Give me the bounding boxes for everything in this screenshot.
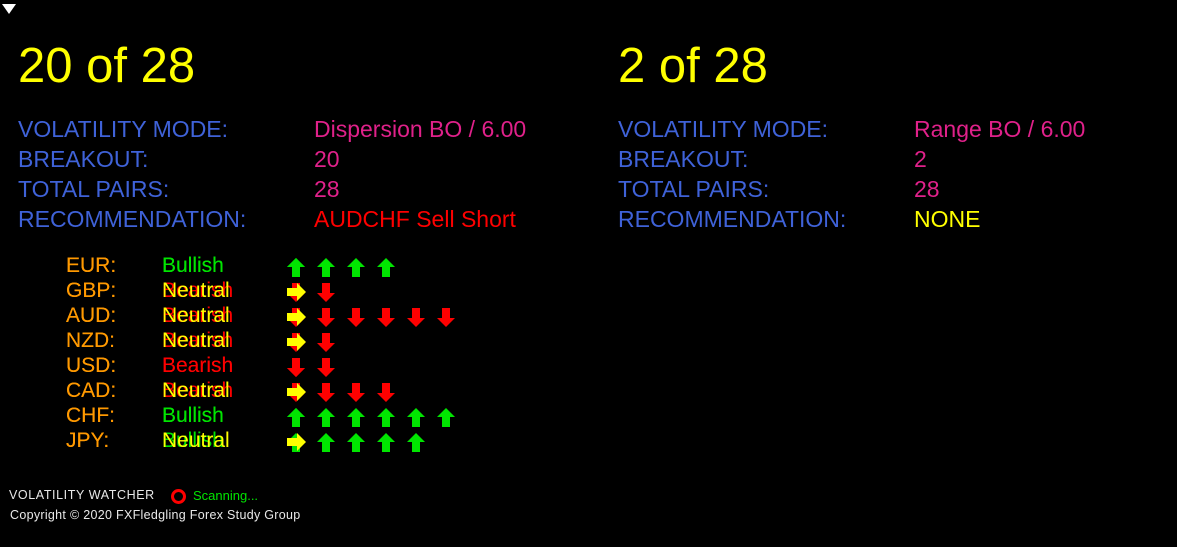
- right-arrow-icon: [285, 331, 315, 353]
- currency-state: Neutral: [162, 429, 230, 453]
- currency-row: CHF: Bullish: [66, 404, 586, 429]
- currency-row: NZD: Neutral: [66, 329, 586, 354]
- currency-state: Bearish: [162, 354, 233, 378]
- down-arrow-icon: [315, 356, 345, 378]
- summary-label: BREAKOUT:: [618, 146, 748, 173]
- summary-value: NONE: [914, 206, 980, 233]
- summary-value: Dispersion BO / 6.00: [314, 116, 526, 143]
- summary-value: 20: [314, 146, 340, 173]
- scan-status-text: Scanning...: [193, 488, 258, 503]
- currency-row: USD: Bearish: [66, 354, 586, 379]
- summary-label: VOLATILITY MODE:: [18, 116, 228, 143]
- panel-count-headline: 2 of 28: [618, 42, 768, 91]
- summary-list: VOLATILITY MODE: Range BO / 6.00 BREAKOU…: [618, 116, 1177, 236]
- copyright-text: Copyright © 2020 FXFledgling Forex Study…: [10, 508, 301, 522]
- currency-row: JPY: Neutral: [66, 429, 586, 454]
- currency-code: EUR:: [66, 254, 116, 278]
- currency-code: AUD:: [66, 304, 116, 328]
- summary-label: TOTAL PAIRS:: [18, 176, 169, 203]
- footer: VOLATILITY WATCHER Scanning... Copyright…: [9, 488, 609, 538]
- volatility-watcher-panel: 20 of 28 VOLATILITY MODE: Dispersion BO …: [0, 0, 1177, 547]
- currency-row: GBP: Neutral: [66, 279, 586, 304]
- currency-state: Bullish: [162, 254, 224, 278]
- currency-arrows: [285, 381, 315, 403]
- currency-code: CHF:: [66, 404, 115, 428]
- summary-value: AUDCHF Sell Short: [314, 206, 516, 233]
- summary-row-breakout: BREAKOUT: 20: [18, 146, 578, 176]
- currency-code: CAD:: [66, 379, 116, 403]
- currency-state: Neutral: [162, 304, 230, 328]
- currency-arrows: [285, 356, 345, 378]
- currency-code: NZD:: [66, 329, 115, 353]
- summary-label: TOTAL PAIRS:: [618, 176, 769, 203]
- panel-range: 2 of 28 VOLATILITY MODE: Range BO / 6.00…: [600, 0, 1177, 470]
- currency-row: EUR: Bullish: [66, 254, 586, 279]
- currency-arrows: [285, 306, 315, 328]
- right-arrow-icon: [285, 281, 315, 303]
- currency-row: CAD: Neutral: [66, 379, 586, 404]
- summary-value: 28: [314, 176, 340, 203]
- currency-code: USD:: [66, 354, 116, 378]
- currency-arrows: [285, 256, 315, 278]
- currency-state: Bullish: [162, 404, 224, 428]
- up-arrow-icon: [285, 256, 315, 278]
- currency-arrows: [285, 281, 315, 303]
- summary-label: RECOMMENDATION:: [18, 206, 246, 233]
- footer-title: VOLATILITY WATCHER: [9, 488, 155, 502]
- currency-row: AUD: Neutral: [66, 304, 586, 329]
- summary-row-volatility-mode: VOLATILITY MODE: Dispersion BO / 6.00: [18, 116, 578, 146]
- summary-value: 2: [914, 146, 927, 173]
- summary-value: Range BO / 6.00: [914, 116, 1085, 143]
- panel-count-headline: 20 of 28: [18, 42, 195, 91]
- summary-row-total-pairs: TOTAL PAIRS: 28: [618, 176, 1177, 206]
- summary-label: RECOMMENDATION:: [618, 206, 846, 233]
- scanning-ring-icon: [171, 489, 186, 504]
- summary-row-recommendation: RECOMMENDATION: NONE: [618, 206, 1177, 236]
- currency-list: EUR: Bullish GBP: Neutral AUD: Neutral N…: [66, 254, 586, 454]
- currency-arrows: [285, 431, 315, 453]
- summary-row-total-pairs: TOTAL PAIRS: 28: [18, 176, 578, 206]
- summary-row-breakout: BREAKOUT: 2: [618, 146, 1177, 176]
- summary-label: BREAKOUT:: [18, 146, 148, 173]
- currency-state: Neutral: [162, 329, 230, 353]
- summary-row-volatility-mode: VOLATILITY MODE: Range BO / 6.00: [618, 116, 1177, 146]
- summary-label: VOLATILITY MODE:: [618, 116, 828, 143]
- summary-value: 28: [914, 176, 940, 203]
- right-arrow-icon: [285, 306, 315, 328]
- up-arrow-icon: [285, 406, 315, 428]
- right-arrow-icon: [285, 431, 315, 453]
- summary-list: VOLATILITY MODE: Dispersion BO / 6.00 BR…: [18, 116, 578, 236]
- currency-arrows: [285, 406, 315, 428]
- down-arrow-icon: [285, 356, 315, 378]
- currency-code: JPY:: [66, 429, 109, 453]
- right-arrow-icon: [285, 381, 315, 403]
- summary-row-recommendation: RECOMMENDATION: AUDCHF Sell Short: [18, 206, 578, 236]
- currency-code: GBP:: [66, 279, 116, 303]
- currency-arrows: [285, 331, 315, 353]
- currency-state: Neutral: [162, 279, 230, 303]
- currency-state: Neutral: [162, 379, 230, 403]
